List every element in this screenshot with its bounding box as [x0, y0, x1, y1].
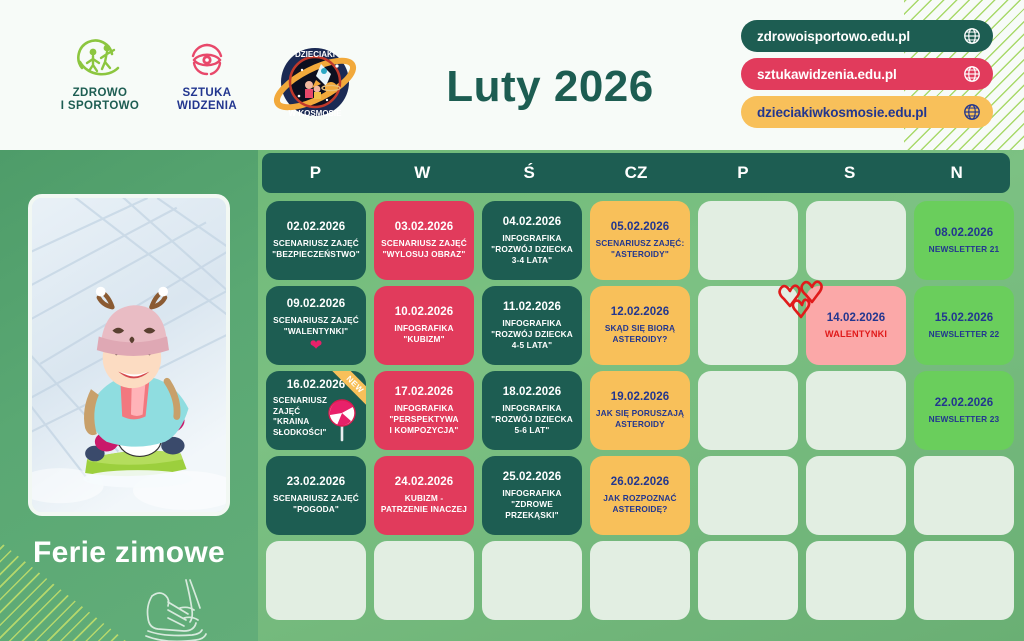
- calendar-empty-cell: [910, 453, 1018, 538]
- day-description: NEWSLETTER 22: [929, 329, 1000, 340]
- day-cell-body: 22.02.2026NEWSLETTER 23: [914, 371, 1014, 450]
- globe-icon: [963, 103, 981, 121]
- logo-dzieciaki-w-kosmosie: DZIECIAKI W KOSMOSIE: [262, 40, 368, 131]
- day-description: SCENARIUSZ ZAJĘĆ "KRAINA SŁODKOŚCI": [271, 396, 327, 438]
- calendar-empty-cell: [694, 283, 802, 368]
- calendar-day-cell[interactable]: 05.02.2026SCENARIUSZ ZAJĘĆ: "ASTEROIDY": [586, 198, 694, 283]
- calendar-day-cell[interactable]: 18.02.2026INFOGRAFIKA "ROZWÓJ DZIECKA 5-…: [478, 368, 586, 453]
- day-date: 04.02.2026: [503, 216, 562, 228]
- day-date: 08.02.2026: [935, 227, 994, 239]
- globe-icon: [963, 65, 981, 83]
- calendar-empty-cell: [910, 538, 1018, 623]
- day-description: SCENARIUSZ ZAJĘĆ "WALENTYNKI": [273, 315, 359, 337]
- day-date: 26.02.2026: [611, 476, 670, 488]
- day-cell-body: [806, 541, 906, 620]
- day-cell-body: [266, 541, 366, 620]
- day-date: 03.02.2026: [395, 221, 454, 233]
- day-cell-body: 02.02.2026SCENARIUSZ ZAJĘĆ "BEZPIECZEŃST…: [266, 201, 366, 280]
- day-description: JAK ROZPOZNAĆ ASTEROIDĘ?: [603, 493, 676, 515]
- day-cell-body: [698, 456, 798, 535]
- day-description: INFOGRAFIKA "ROZWÓJ DZIECKA 5-6 LAT": [491, 403, 573, 436]
- day-description: INFOGRAFIKA "KUBIZM": [394, 323, 453, 345]
- url-badge-sztukawidzenia[interactable]: sztukawidzenia.edu.pl: [741, 58, 993, 90]
- logo-zdrowo-i-sportowo: ZDROWO I SPORTOWO: [40, 38, 160, 113]
- calendar-day-cell[interactable]: 10.02.2026INFOGRAFIKA "KUBIZM": [370, 283, 478, 368]
- day-cell-body: [482, 541, 582, 620]
- day-date: 24.02.2026: [395, 476, 454, 488]
- day-cell-body: 15.02.2026NEWSLETTER 22: [914, 286, 1014, 365]
- calendar-empty-cell: [262, 538, 370, 623]
- lollipop-icon: [325, 398, 359, 442]
- calendar-day-cell[interactable]: 03.02.2026SCENARIUSZ ZAJĘĆ "WYLOSUJ OBRA…: [370, 198, 478, 283]
- day-description: INFOGRAFIKA "ROZWÓJ DZIECKA 4-5 LATA": [491, 318, 573, 351]
- day-date: 02.02.2026: [287, 221, 346, 233]
- url-badge-label: zdrowoisportowo.edu.pl: [757, 29, 910, 44]
- day-cell-body: 11.02.2026INFOGRAFIKA "ROZWÓJ DZIECKA 4-…: [482, 286, 582, 365]
- calendar-day-cell[interactable]: 02.02.2026SCENARIUSZ ZAJĘĆ "BEZPIECZEŃST…: [262, 198, 370, 283]
- day-cell-body: [914, 456, 1014, 535]
- calendar-panel: P W Ś CZ P S N 02.02.2026SCENARIUSZ ZAJĘ…: [258, 150, 1024, 641]
- day-date: 09.02.2026: [287, 298, 346, 310]
- day-date: 17.02.2026: [395, 386, 454, 398]
- day-date: 10.02.2026: [395, 306, 454, 318]
- eye-icon: [181, 38, 233, 82]
- day-description: INFOGRAFIKA "ZDROWE PRZEKĄSKI": [487, 488, 577, 521]
- day-cell-body: 19.02.2026JAK SIĘ PORUSZAJĄ ASTEROIDY: [590, 371, 690, 450]
- logo-zdrowo-label: ZDROWO I SPORTOWO: [40, 87, 160, 113]
- calendar-day-cell[interactable]: 16.02.2026SCENARIUSZ ZAJĘĆ "KRAINA SŁODK…: [262, 368, 370, 453]
- day-description: SCENARIUSZ ZAJĘĆ "WYLOSUJ OBRAZ": [381, 238, 467, 260]
- calendar-day-cell[interactable]: 24.02.2026KUBIZM - PATRZENIE INACZEJ: [370, 453, 478, 538]
- calendar-empty-cell: [802, 198, 910, 283]
- day-cell-body: 24.02.2026KUBIZM - PATRZENIE INACZEJ: [374, 456, 474, 535]
- calendar-day-cell[interactable]: 25.02.2026INFOGRAFIKA "ZDROWE PRZEKĄSKI": [478, 453, 586, 538]
- day-date: 25.02.2026: [503, 471, 562, 483]
- calendar-empty-cell: [370, 538, 478, 623]
- badge-text-bottom: W KOSMOSIE: [289, 109, 343, 118]
- calendar-day-cell[interactable]: 19.02.2026JAK SIĘ PORUSZAJĄ ASTEROIDY: [586, 368, 694, 453]
- day-date: 18.02.2026: [503, 386, 562, 398]
- sledding-girl-illustration: [32, 198, 226, 512]
- logo-sztuka-label: SZTUKA WIDZENIA: [152, 87, 262, 113]
- page-header: ZDROWO I SPORTOWO SZTUKA WIDZENIA: [0, 0, 1024, 150]
- winter-photo: [28, 194, 230, 516]
- day-cell-body: [590, 541, 690, 620]
- day-cell-body: 17.02.2026INFOGRAFIKA "PERSPEKTYWA I KOM…: [374, 371, 474, 450]
- calendar-day-cell[interactable]: 17.02.2026INFOGRAFIKA "PERSPEKTYWA I KOM…: [370, 368, 478, 453]
- day-cell-body: 08.02.2026NEWSLETTER 21: [914, 201, 1014, 280]
- weekday-s: Ś: [476, 153, 583, 193]
- calendar-day-cell[interactable]: 04.02.2026INFOGRAFIKA "ROZWÓJ DZIECKA 3-…: [478, 198, 586, 283]
- day-description: NEWSLETTER 23: [929, 414, 1000, 425]
- weekday-cz: CZ: [583, 153, 690, 193]
- day-cell-body: [698, 201, 798, 280]
- calendar-empty-cell: [478, 538, 586, 623]
- calendar-day-cell[interactable]: 08.02.2026NEWSLETTER 21: [910, 198, 1018, 283]
- calendar-day-cell[interactable]: 23.02.2026SCENARIUSZ ZAJĘĆ "POGODA": [262, 453, 370, 538]
- calendar-day-cell[interactable]: 09.02.2026SCENARIUSZ ZAJĘĆ "WALENTYNKI"❤: [262, 283, 370, 368]
- logo-sztuka-widzenia: SZTUKA WIDZENIA: [152, 38, 262, 113]
- globe-icon: [963, 27, 981, 45]
- page-title: Luty 2026: [380, 62, 720, 112]
- calendar-day-cell[interactable]: 22.02.2026NEWSLETTER 23: [910, 368, 1018, 453]
- day-cell-body: 03.02.2026SCENARIUSZ ZAJĘĆ "WYLOSUJ OBRA…: [374, 201, 474, 280]
- weekday-header-row: P W Ś CZ P S N: [262, 153, 1010, 193]
- calendar-day-cell[interactable]: 15.02.2026NEWSLETTER 22: [910, 283, 1018, 368]
- day-date: 19.02.2026: [611, 391, 670, 403]
- day-description: INFOGRAFIKA "ROZWÓJ DZIECKA 3-4 LATA": [491, 233, 573, 266]
- weekday-s2: S: [796, 153, 903, 193]
- calendar-empty-cell: [586, 538, 694, 623]
- day-cell-body: [698, 371, 798, 450]
- ice-skates-icon: [128, 574, 224, 641]
- day-date: 23.02.2026: [287, 476, 346, 488]
- url-badge-label: sztukawidzenia.edu.pl: [757, 67, 897, 82]
- calendar-empty-cell: [802, 368, 910, 453]
- calendar-day-cell[interactable]: 14.02.2026WALENTYNKI: [802, 283, 910, 368]
- calendar-empty-cell: [694, 453, 802, 538]
- space-badge-icon: DZIECIAKI W KOSMOSIE: [269, 40, 361, 126]
- url-badge-dzieciakiwkosmosie[interactable]: dzieciakiwkosmosie.edu.pl: [741, 96, 993, 128]
- calendar-empty-cell: [694, 198, 802, 283]
- day-date: 16.02.2026: [287, 379, 346, 391]
- calendar-empty-cell: [694, 538, 802, 623]
- calendar-day-cell[interactable]: 26.02.2026JAK ROZPOZNAĆ ASTEROIDĘ?: [586, 453, 694, 538]
- day-description: WALENTYNKI: [825, 329, 887, 340]
- day-cell-body: 16.02.2026SCENARIUSZ ZAJĘĆ "KRAINA SŁODK…: [266, 371, 366, 450]
- zdrowo-sportowo-icon: [74, 38, 126, 82]
- day-cell-body: 18.02.2026INFOGRAFIKA "ROZWÓJ DZIECKA 5-…: [482, 371, 582, 450]
- day-cell-body: [806, 456, 906, 535]
- day-cell-body: 26.02.2026JAK ROZPOZNAĆ ASTEROIDĘ?: [590, 456, 690, 535]
- day-cell-body: 05.02.2026SCENARIUSZ ZAJĘĆ: "ASTEROIDY": [590, 201, 690, 280]
- day-cell-body: 12.02.2026SKĄD SIĘ BIORĄ ASTEROIDY?: [590, 286, 690, 365]
- weekday-w: W: [369, 153, 476, 193]
- day-date: 12.02.2026: [611, 306, 670, 318]
- calendar-empty-cell: [802, 538, 910, 623]
- day-cell-body: [806, 371, 906, 450]
- url-badge-zdrowoisportowo[interactable]: zdrowoisportowo.edu.pl: [741, 20, 993, 52]
- day-cell-body: 09.02.2026SCENARIUSZ ZAJĘĆ "WALENTYNKI"❤: [266, 286, 366, 365]
- day-date: 22.02.2026: [935, 397, 994, 409]
- day-description: NEWSLETTER 21: [929, 244, 1000, 255]
- day-cell-body: [698, 286, 798, 365]
- day-cell-body: 10.02.2026INFOGRAFIKA "KUBIZM": [374, 286, 474, 365]
- day-description: SCENARIUSZ ZAJĘĆ "POGODA": [273, 493, 359, 515]
- day-description: SCENARIUSZ ZAJĘĆ "BEZPIECZEŃSTWO": [272, 238, 360, 260]
- url-badge-label: dzieciakiwkosmosie.edu.pl: [757, 105, 927, 120]
- day-date: 05.02.2026: [611, 221, 670, 233]
- day-date: 15.02.2026: [935, 312, 994, 324]
- day-cell-body: [806, 201, 906, 280]
- heart-icon: ❤: [310, 339, 323, 353]
- day-cell-body: 14.02.2026WALENTYNKI: [806, 286, 906, 365]
- calendar-empty-cell: [694, 368, 802, 453]
- day-description: SCENARIUSZ ZAJĘĆ: "ASTEROIDY": [596, 238, 685, 260]
- badge-text-top: DZIECIAKI: [295, 50, 335, 59]
- weekday-p1: P: [262, 153, 369, 193]
- day-description: INFOGRAFIKA "PERSPEKTYWA I KOMPOZYCJA": [389, 403, 458, 436]
- day-cell-body: [698, 541, 798, 620]
- calendar-day-cell[interactable]: 11.02.2026INFOGRAFIKA "ROZWÓJ DZIECKA 4-…: [478, 283, 586, 368]
- day-cell-body: 25.02.2026INFOGRAFIKA "ZDROWE PRZEKĄSKI": [482, 456, 582, 535]
- day-date: 11.02.2026: [503, 301, 561, 313]
- day-date: 14.02.2026: [827, 312, 886, 324]
- day-cell-body: [914, 541, 1014, 620]
- weekday-n: N: [903, 153, 1010, 193]
- calendar-empty-cell: [802, 453, 910, 538]
- calendar-day-cell[interactable]: 12.02.2026SKĄD SIĘ BIORĄ ASTEROIDY?: [586, 283, 694, 368]
- day-cell-body: 04.02.2026INFOGRAFIKA "ROZWÓJ DZIECKA 3-…: [482, 201, 582, 280]
- weekday-p2: P: [689, 153, 796, 193]
- url-badge-list: zdrowoisportowo.edu.pl sztukawidzenia.ed…: [741, 20, 993, 134]
- day-description: SKĄD SIĘ BIORĄ ASTEROIDY?: [605, 323, 675, 345]
- day-cell-body: 23.02.2026SCENARIUSZ ZAJĘĆ "POGODA": [266, 456, 366, 535]
- day-description: JAK SIĘ PORUSZAJĄ ASTEROIDY: [596, 408, 684, 430]
- calendar-grid: 02.02.2026SCENARIUSZ ZAJĘĆ "BEZPIECZEŃST…: [262, 198, 1018, 623]
- day-cell-body: [374, 541, 474, 620]
- day-description: KUBIZM - PATRZENIE INACZEJ: [381, 493, 467, 515]
- sidebar-caption: Ferie zimowe: [0, 536, 258, 570]
- sidebar-panel: Ferie zimowe: [0, 150, 258, 641]
